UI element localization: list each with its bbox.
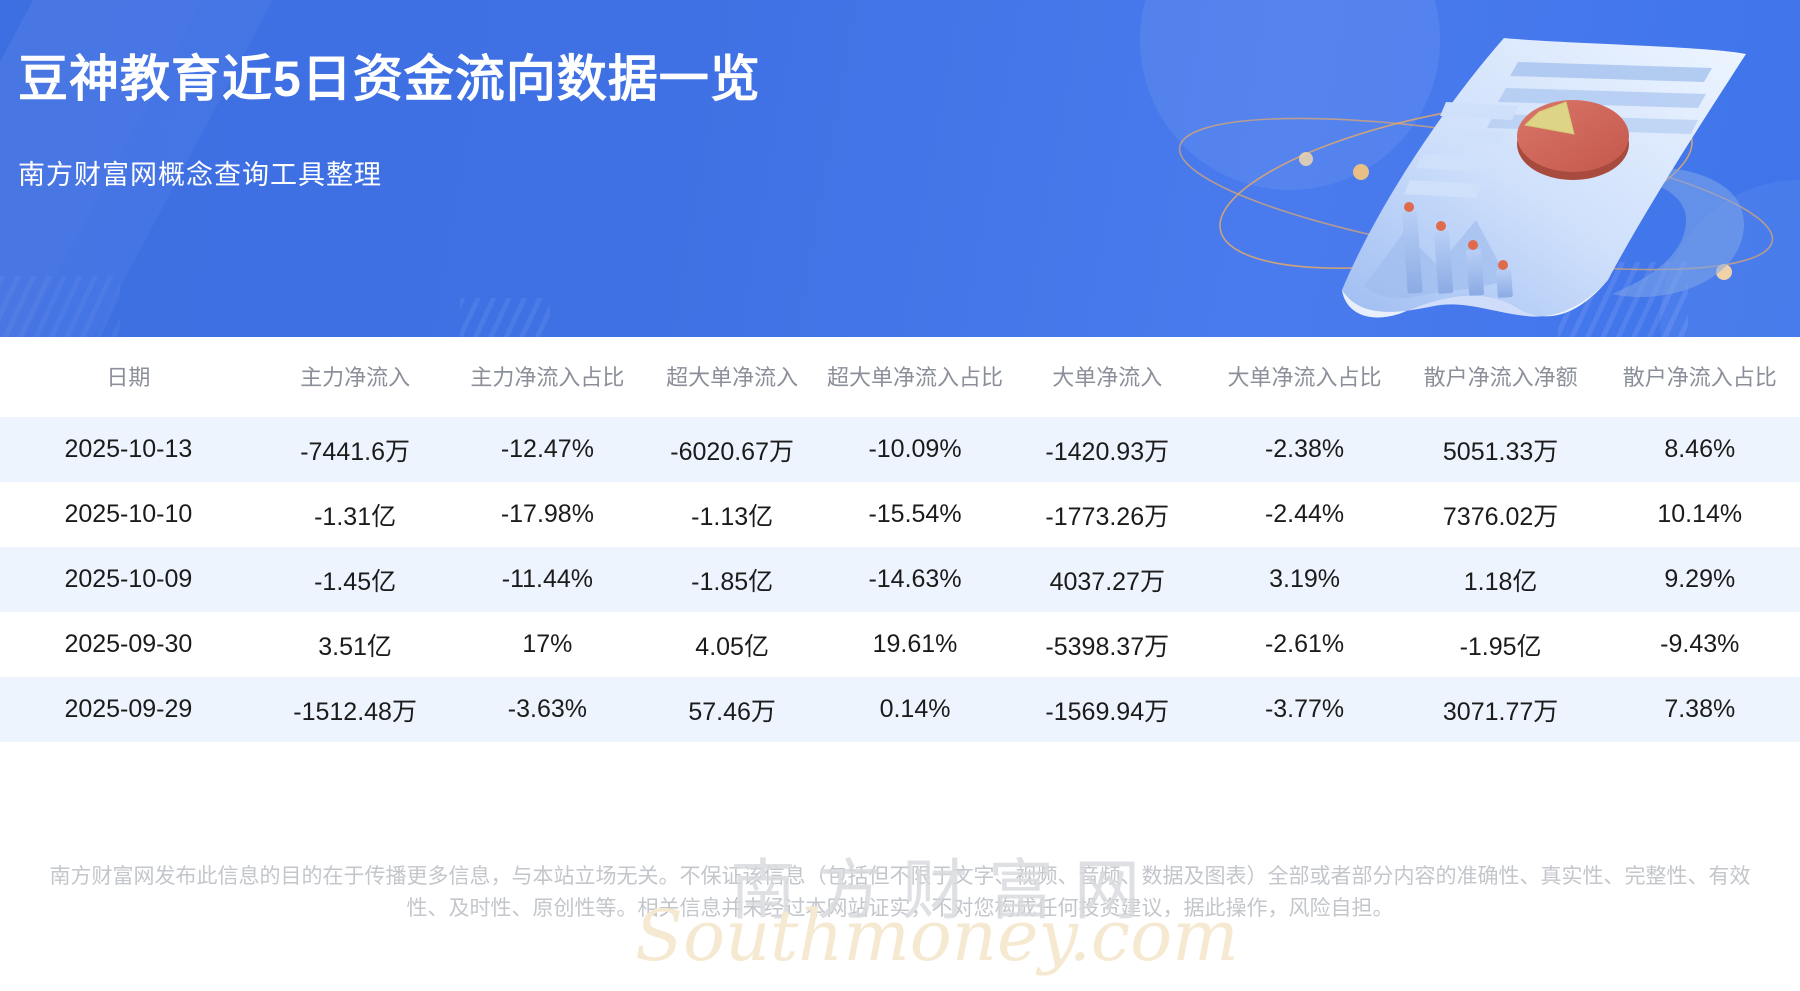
cell-retail-net: 3071.77万 [1402, 677, 1600, 742]
column-header-main-net[interactable]: 主力净流入 [257, 337, 454, 417]
cell-lg-pct: -2.61% [1207, 612, 1401, 677]
column-header-date[interactable]: 日期 [0, 337, 257, 417]
cell-retail-net: 1.18亿 [1402, 547, 1600, 612]
cell-retail-pct: -9.43% [1600, 612, 1800, 677]
page-title: 豆神教育近5日资金流向数据一览 [18, 48, 761, 111]
page-subtitle: 南方财富网概念查询工具整理 [18, 153, 761, 192]
cell-main-pct: -11.44% [453, 547, 641, 612]
cell-date: 2025-10-09 [0, 547, 257, 612]
cell-main-net: -1.31亿 [257, 482, 454, 547]
cell-xl-pct: 0.14% [823, 677, 1007, 742]
report-document-chart-icon [1146, 0, 1786, 337]
cell-lg-pct: -2.38% [1207, 417, 1401, 482]
cell-xl-pct: 19.61% [823, 612, 1007, 677]
cell-lg-net: -1420.93万 [1007, 417, 1207, 482]
fund-flow-table: 日期 主力净流入 主力净流入占比 超大单净流入 超大单净流入占比 大单净流入 大… [0, 337, 1800, 742]
disclaimer-footer: 南方财富网发布此信息的目的在于传播更多信息，与本站立场无关。不保证该信息（包括但… [0, 861, 1800, 926]
table-row[interactable]: 2025-10-09 -1.45亿 -11.44% -1.85亿 -14.63%… [0, 547, 1800, 612]
cell-main-pct: -12.47% [453, 417, 641, 482]
header-text-block: 豆神教育近5日资金流向数据一览 南方财富网概念查询工具整理 [18, 48, 761, 192]
column-header-main-pct[interactable]: 主力净流入占比 [453, 337, 641, 417]
cell-xl-net: -6020.67万 [641, 417, 823, 482]
cell-xl-pct: -10.09% [823, 417, 1007, 482]
table-row[interactable]: 2025-10-13 -7441.6万 -12.47% -6020.67万 -1… [0, 417, 1800, 482]
cell-xl-net: 57.46万 [641, 677, 823, 742]
column-header-retail-net[interactable]: 散户净流入净额 [1402, 337, 1600, 417]
cell-date: 2025-10-10 [0, 482, 257, 547]
cell-xl-pct: -15.54% [823, 482, 1007, 547]
column-header-lg-net[interactable]: 大单净流入 [1007, 337, 1207, 417]
cell-lg-net: 4037.27万 [1007, 547, 1207, 612]
cell-date: 2025-09-30 [0, 612, 257, 677]
cell-main-net: -1512.48万 [257, 677, 454, 742]
table-row[interactable]: 2025-09-29 -1512.48万 -3.63% 57.46万 0.14%… [0, 677, 1800, 742]
cell-retail-net: 5051.33万 [1402, 417, 1600, 482]
cell-main-net: -7441.6万 [257, 417, 454, 482]
header-decor-hatch-1 [460, 298, 550, 337]
cell-retail-net: -1.95亿 [1402, 612, 1600, 677]
cell-lg-net: -5398.37万 [1007, 612, 1207, 677]
cell-retail-pct: 9.29% [1600, 547, 1800, 612]
cell-retail-pct: 7.38% [1600, 677, 1800, 742]
column-header-xl-net[interactable]: 超大单净流入 [641, 337, 823, 417]
page-header: 豆神教育近5日资金流向数据一览 南方财富网概念查询工具整理 [0, 0, 1800, 337]
disclaimer-line-2: 性、及时性、原创性等。相关信息并未经过本网站证实，不对您构成任何投资建议，据此操… [10, 893, 1790, 926]
table-row[interactable]: 2025-09-30 3.51亿 17% 4.05亿 19.61% -5398.… [0, 612, 1800, 677]
cell-retail-net: 7376.02万 [1402, 482, 1600, 547]
disclaimer-line-1: 南方财富网发布此信息的目的在于传播更多信息，与本站立场无关。不保证该信息（包括但… [10, 861, 1790, 894]
cell-lg-net: -1569.94万 [1007, 677, 1207, 742]
cell-xl-pct: -14.63% [823, 547, 1007, 612]
cell-lg-net: -1773.26万 [1007, 482, 1207, 547]
cell-main-pct: -3.63% [453, 677, 641, 742]
cell-xl-net: -1.85亿 [641, 547, 823, 612]
header-decor-hatch-3 [0, 276, 120, 337]
cell-main-net: 3.51亿 [257, 612, 454, 677]
cell-xl-net: -1.13亿 [641, 482, 823, 547]
table-header-row: 日期 主力净流入 主力净流入占比 超大单净流入 超大单净流入占比 大单净流入 大… [0, 337, 1800, 417]
fund-flow-table-wrapper: 南方财富网 Southmoney.com 日期 主力净流入 主力净流入占比 超大… [0, 337, 1800, 742]
cell-retail-pct: 8.46% [1600, 417, 1800, 482]
column-header-lg-pct[interactable]: 大单净流入占比 [1207, 337, 1401, 417]
cell-xl-net: 4.05亿 [641, 612, 823, 677]
cell-date: 2025-10-13 [0, 417, 257, 482]
cell-main-pct: -17.98% [453, 482, 641, 547]
column-header-xl-pct[interactable]: 超大单净流入占比 [823, 337, 1007, 417]
cell-date: 2025-09-29 [0, 677, 257, 742]
table-row[interactable]: 2025-10-10 -1.31亿 -17.98% -1.13亿 -15.54%… [0, 482, 1800, 547]
table-body: 2025-10-13 -7441.6万 -12.47% -6020.67万 -1… [0, 417, 1800, 742]
cell-main-pct: 17% [453, 612, 641, 677]
cell-main-net: -1.45亿 [257, 547, 454, 612]
column-header-retail-pct[interactable]: 散户净流入占比 [1600, 337, 1800, 417]
cell-lg-pct: 3.19% [1207, 547, 1401, 612]
cell-lg-pct: -3.77% [1207, 677, 1401, 742]
cell-lg-pct: -2.44% [1207, 482, 1401, 547]
cell-retail-pct: 10.14% [1600, 482, 1800, 547]
